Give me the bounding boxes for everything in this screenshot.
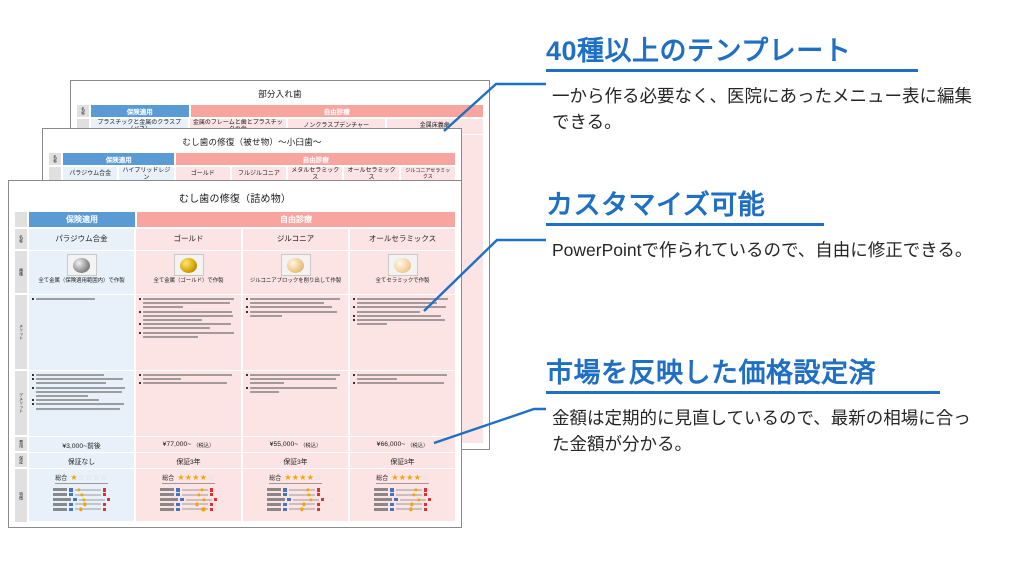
cell-name: ゴールド — [136, 229, 241, 251]
feature-body: 金額は定期的に見直しているので、最新の相場に合った金額が分かる。 — [546, 405, 976, 458]
price-value: ¥3,000~前後 — [62, 440, 100, 450]
comparison-table: 名称 画像 メリット デメリット 費用 保証 特徴 保険適用 自由診療 パラジウ… — [14, 211, 456, 523]
row-label-column: 名称 画像 メリット デメリット 費用 保証 特徴 — [14, 211, 28, 523]
cell-name: ジルコニア — [243, 229, 348, 251]
feature-block-market-pricing: 市場を反映した価格設定済 金額は定期的に見直しているので、最新の相場に合った金額… — [546, 358, 1016, 457]
row-label-name: 名称 — [48, 152, 62, 166]
cell-feature: 総合 ★★★★☆ — [243, 469, 348, 522]
cell-feature: 総合 ★☆☆☆☆ — [29, 469, 134, 522]
total-rating-label: 総合 — [269, 473, 281, 482]
row-label-warranty: 保証 — [14, 452, 28, 468]
cell-merit — [29, 295, 134, 371]
cell-image: 全て金属（ゴールド）で作製 — [136, 251, 241, 295]
attribute-sliders — [160, 488, 217, 511]
price-tax: （税込） — [407, 441, 428, 449]
column-gold[interactable]: ゴールド 全て金属（ゴールド）で作製 — [135, 228, 242, 523]
document-title: むし歯の修復（詰め物） — [14, 185, 456, 211]
material-thumbnail — [67, 254, 97, 276]
total-rating: 総合 ★★★★☆ — [376, 473, 428, 484]
attribute-sliders — [374, 488, 431, 511]
cell-image: ジルコニアブロックを削り出して作製 — [243, 251, 348, 295]
attribute-sliders — [267, 488, 324, 511]
feature-body: 一から作る必要なく、医院にあったメニュー表に編集できる。 — [546, 83, 976, 136]
cell-price: ¥3,000~前後 — [29, 437, 134, 453]
feature-panel: 40種以上のテンプレート 一から作る必要なく、医院にあったメニュー表に編集できる… — [546, 0, 1024, 576]
coverage-band: 保険適用 自由診療 — [90, 104, 484, 118]
column-grid: パラジウム合金 全て金属（保険適用範囲内）で作製 — [28, 228, 456, 523]
star-rating: ★★★★☆ — [284, 474, 321, 482]
feature-block-templates: 40種以上のテンプレート 一から作る必要なく、医院にあったメニュー表に編集できる… — [546, 36, 1016, 135]
cell-demerit — [136, 371, 241, 437]
star-rating: ★★★★☆ — [177, 474, 214, 482]
feature-underline — [546, 391, 940, 394]
total-rating-label: 総合 — [376, 473, 388, 482]
total-rating: 総合 ★★★★☆ — [269, 473, 321, 484]
star-rating: ★☆☆☆☆ — [70, 474, 107, 482]
document-card-inlay[interactable]: むし歯の修復（詰め物） 名称 画像 メリット デメリット 費用 保証 特徴 保険… — [8, 180, 462, 528]
total-rating: 総合 ★☆☆☆☆ — [55, 473, 107, 484]
cell-warranty: 保証3年 — [243, 453, 348, 469]
cell-image: 全て金属（保険適用範囲内）で作製 — [29, 251, 134, 295]
cell-merit — [136, 295, 241, 371]
band-insurance: 保険適用 — [28, 211, 136, 228]
feature-block-customizable: カスタマイズ可能 PowerPointで作られているので、自由に修正できる。 — [546, 190, 1016, 263]
column-palladium[interactable]: パラジウム合金 全て金属（保険適用範囲内）で作製 — [28, 228, 135, 523]
total-rating: 総合 ★★★★☆ — [162, 473, 214, 484]
column-all-ceramics[interactable]: オールセラミックス 全てセラミックで作製 — [349, 228, 456, 523]
price-value: ¥55,000~ — [270, 441, 299, 448]
cell-warranty: 保証3年 — [136, 453, 241, 469]
cell-feature: 総合 ★★★★☆ — [350, 469, 455, 522]
band-selfpay: 自由診療 — [136, 211, 456, 228]
image-caption: ジルコニアブロックを削り出して作製 — [250, 278, 341, 284]
cell-merit — [350, 295, 455, 371]
material-thumbnail — [281, 254, 311, 276]
price-value: ¥77,000~ — [163, 441, 192, 448]
cell-feature: 総合 ★★★★☆ — [136, 469, 241, 522]
cell-price: ¥66,000~ （税込） — [350, 437, 455, 453]
total-rating-label: 総合 — [55, 473, 67, 482]
feature-body: PowerPointで作られているので、自由に修正できる。 — [546, 237, 976, 263]
image-caption: 全てセラミックで作製 — [376, 278, 430, 284]
attribute-sliders — [53, 488, 110, 511]
feature-heading: カスタマイズ可能 — [546, 190, 1016, 220]
total-rating-label: 総合 — [162, 473, 174, 482]
cell-demerit — [243, 371, 348, 437]
document-title: 部分入れ歯 — [76, 85, 484, 104]
row-label-feature: 特徴 — [14, 468, 28, 523]
band-insurance: 保険適用 — [90, 104, 190, 118]
cell-demerit — [350, 371, 455, 437]
price-value: ¥66,000~ — [377, 441, 406, 448]
cell-merit — [243, 295, 348, 371]
document-title: むし歯の修復（被せ物）〜小臼歯〜 — [48, 133, 456, 152]
cell-demerit — [29, 371, 134, 437]
star-rating: ★★★★☆ — [391, 474, 428, 482]
price-tax: （税込） — [300, 441, 321, 449]
feature-heading: 40種以上のテンプレート — [546, 36, 1016, 66]
cell-name: オールセラミックス — [350, 229, 455, 251]
row-label-coverage — [14, 211, 28, 228]
feature-underline — [546, 69, 918, 72]
cell-warranty: 保証なし — [29, 453, 134, 469]
material-thumbnail — [388, 254, 418, 276]
row-label-name: 名称 — [14, 228, 28, 250]
column-zirconia[interactable]: ジルコニア ジルコニアブロックを削り出して作製 — [242, 228, 349, 523]
cell-image: 全てセラミックで作製 — [350, 251, 455, 295]
material-thumbnail — [174, 254, 204, 276]
coverage-band: 保険適用 自由診療 — [62, 152, 456, 166]
feature-underline — [546, 223, 824, 226]
cell-name: パラジウム合金 — [29, 229, 134, 251]
coverage-band: 保険適用 自由診療 — [28, 211, 456, 228]
row-label-price: 費用 — [14, 436, 28, 452]
row-label-name: 名称 — [76, 104, 90, 118]
image-caption: 全て金属（保険適用範囲内）で作製 — [38, 278, 124, 284]
feature-heading: 市場を反映した価格設定済 — [546, 358, 1016, 388]
image-caption: 全て金属（ゴールド）で作製 — [153, 278, 223, 284]
row-label-image: 画像 — [14, 250, 28, 294]
cell-price: ¥55,000~ （税込） — [243, 437, 348, 453]
band-selfpay: 自由診療 — [190, 104, 485, 118]
cell-price: ¥77,000~ （税込） — [136, 437, 241, 453]
band-insurance: 保険適用 — [62, 152, 175, 166]
row-label-merit: メリット — [14, 294, 28, 370]
cell-warranty: 保証3年 — [350, 453, 455, 469]
price-tax: （税込） — [193, 441, 214, 449]
row-label-demerit: デメリット — [14, 370, 28, 436]
band-selfpay: 自由診療 — [175, 152, 456, 166]
